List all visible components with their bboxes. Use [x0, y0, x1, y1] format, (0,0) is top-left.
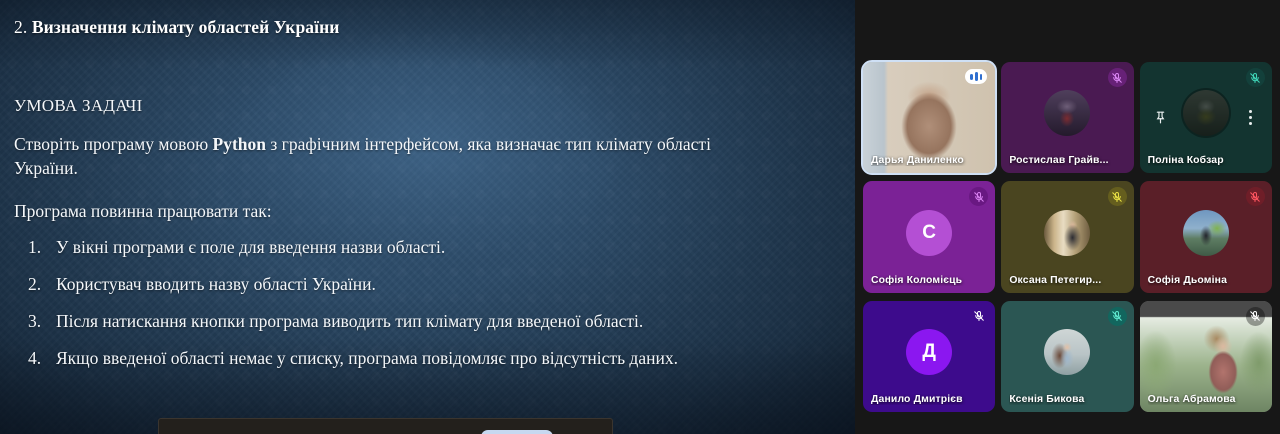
list-item: 4. Якщо введеної області немає у списку,…: [14, 347, 804, 371]
participant-name-label: Софія Дьоміна: [1148, 275, 1264, 286]
participant-tile[interactable]: Софія Дьоміна: [1140, 181, 1272, 292]
audio-level-icon: [965, 69, 987, 84]
participant-tile[interactable]: ДДанило Дмитрієв: [863, 301, 995, 412]
embedded-app-window-screenshot: [158, 418, 613, 434]
participants-panel: Дарья ДаниленкоРостислав Грайв...Поліна …: [855, 0, 1280, 434]
participant-name-label: Ростислав Грайв...: [1009, 155, 1125, 166]
pin-icon[interactable]: [1152, 107, 1170, 129]
mic-muted-icon: [969, 307, 988, 326]
participant-name-label: Ксенія Бикова: [1009, 394, 1125, 405]
avatar: [1044, 90, 1090, 136]
slide-lead-in: Програма повинна працювати так:: [14, 201, 825, 222]
participant-tile[interactable]: Ксенія Бикова: [1001, 301, 1133, 412]
avatar-photo: [1044, 329, 1090, 375]
avatar: C: [906, 210, 952, 256]
list-item-label: Користувач вводить назву області України…: [56, 274, 376, 294]
participant-tile[interactable]: Дарья Даниленко: [863, 62, 995, 173]
participant-tile[interactable]: Ростислав Грайв...: [1001, 62, 1133, 173]
mic-muted-icon: [1108, 307, 1127, 326]
list-item: 3. Після натискання кнопки програма виво…: [14, 310, 804, 334]
mic-muted-icon: [1108, 68, 1127, 87]
shared-screen-slide[interactable]: 2. Визначення клімату областей України У…: [0, 0, 855, 434]
paragraph-keyword-python: Python: [213, 134, 266, 154]
mic-muted-icon: [969, 187, 988, 206]
avatar: [1044, 210, 1090, 256]
participant-tile-grid: Дарья ДаниленкоРостислав Грайв...Поліна …: [863, 62, 1272, 412]
list-item-marker: 4.: [28, 347, 50, 371]
participant-name-label: Оксана Петегир...: [1009, 275, 1125, 286]
list-item-label: Після натискання кнопки програма виводит…: [56, 311, 643, 331]
more-options-icon[interactable]: [1242, 107, 1260, 129]
participant-name-label: Софія Коломієць: [871, 275, 987, 286]
paragraph-part-1: Створіть програму мовою: [14, 134, 213, 154]
list-item-marker: 1.: [28, 236, 50, 260]
mic-muted-icon: [1108, 187, 1127, 206]
slide-title: 2. Визначення клімату областей України: [14, 17, 825, 38]
slide-steps-list: 1. У вікні програми є поле для введення …: [14, 236, 825, 370]
mic-muted-icon: [1246, 307, 1265, 326]
slide-subtitle: УМОВА ЗАДАЧІ: [14, 96, 825, 116]
list-item-label: У вікні програми є поле для введення наз…: [56, 237, 445, 257]
list-item: 1. У вікні програми є поле для введення …: [14, 236, 804, 260]
participant-tile[interactable]: CСофія Коломієць: [863, 181, 995, 292]
avatar-photo: [1044, 90, 1090, 136]
participant-tile[interactable]: Ольга Абрамова: [1140, 301, 1272, 412]
slide-title-text: Визначення клімату областей України: [32, 17, 340, 37]
embedded-window-button: [481, 430, 553, 434]
avatar-photo: [1183, 210, 1229, 256]
slide-paragraph: Створіть програму мовою Python з графічн…: [14, 132, 744, 180]
participant-name-label: Ольга Абрамова: [1148, 394, 1264, 405]
mic-muted-icon: [1246, 187, 1265, 206]
avatar-photo: [1044, 210, 1090, 256]
participant-tile[interactable]: Поліна Кобзар: [1140, 62, 1272, 173]
meeting-screen-share-view: 2. Визначення клімату областей України У…: [0, 0, 1280, 434]
avatar: [1044, 329, 1090, 375]
avatar: Д: [906, 329, 952, 375]
tile-hover-controls: [1140, 62, 1272, 173]
slide-title-number: 2.: [14, 17, 27, 37]
participant-name-label: Данило Дмитрієв: [871, 394, 987, 405]
participant-tile[interactable]: Оксана Петегир...: [1001, 181, 1133, 292]
slide-content: 2. Визначення клімату областей України У…: [0, 0, 855, 370]
avatar: [1183, 210, 1229, 256]
list-item: 2. Користувач вводить назву області Укра…: [14, 273, 804, 297]
list-item-marker: 3.: [28, 310, 50, 334]
list-item-label: Якщо введеної області немає у списку, пр…: [56, 348, 678, 368]
participant-name-label: Дарья Даниленко: [871, 155, 987, 166]
list-item-marker: 2.: [28, 273, 50, 297]
